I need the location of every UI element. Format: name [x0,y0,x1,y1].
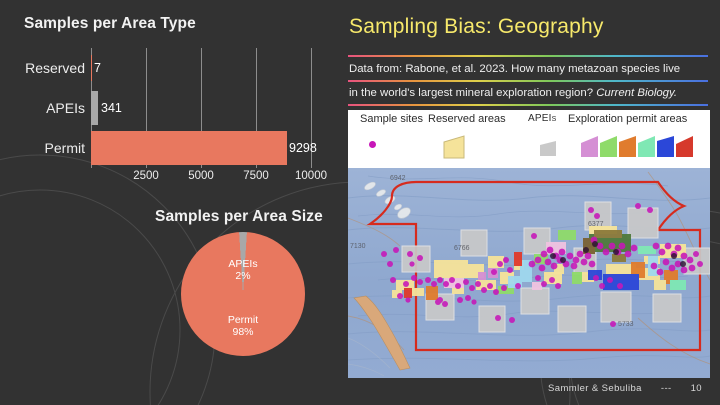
footer-page-number: 10 [691,383,702,394]
apei-polygon-icon [538,139,560,159]
pie-slice-label-apeis: APEIs 2% [228,258,257,282]
sample-site-dot-icon [369,141,376,148]
bar-chart-x-axis: 2500 5000 7500 10000 [91,170,312,190]
map-graphic: 6942 7130 6766 6377 5733 [348,168,710,378]
axis-tick-2500: 2500 [133,170,159,182]
table-row[interactable]: Reserved 7 [91,48,312,88]
bar-value-label: 341 [101,101,122,115]
legend-label-permit-areas: Exploration permit areas [568,113,687,125]
left-charts-column: Samples per Area Type Reserved 7 APEIs 3… [0,0,340,405]
pie-slice-percent: 2% [228,270,257,282]
slide-root: Samples per Area Type Reserved 7 APEIs 3… [0,0,720,405]
map-legend: Sample sites Reserved areas APEIs Explor… [348,110,710,168]
citation-journal: Current Biology. [596,87,677,99]
reserved-area-polygon-icon [442,134,470,160]
map-annotation: 6766 [454,245,470,252]
axis-tick-7500: 7500 [243,170,269,182]
bar-chart-plot-area: Reserved 7 APEIs 341 Permit 9298 [91,48,312,168]
bar-permit[interactable] [91,131,287,165]
bar-category-label: APEIs [46,100,85,116]
permit-area-polygon-icons [580,134,698,160]
footer-authors: Sammler & Sebuliba [548,383,642,394]
pie-chart-title: Samples per Area Size [155,208,323,226]
citation-line-1: Data from: Rabone, et al. 2023. How many… [349,57,711,81]
page-title: Sampling Bias: Geography [349,15,604,39]
map-image[interactable]: 6942 7130 6766 6377 5733 [348,168,710,378]
footer-text: Sammler & Sebuliba --- 10 [532,383,702,394]
pie-chart[interactable]: APEIs 2% Permit 98% [181,232,305,356]
legend-label-sample-sites: Sample sites [360,113,423,125]
bar-chart: Reserved 7 APEIs 341 Permit 9298 2500 5 [0,48,340,188]
slide-footer: Sammler & Sebuliba --- 10 [0,383,720,397]
table-row[interactable]: APEIs 341 [91,88,312,128]
axis-tick-10000: 10000 [295,170,327,182]
footer-separator: --- [661,383,672,394]
bar-apeis[interactable] [91,91,98,125]
citation-plain: in the world's largest mineral explorati… [349,87,596,99]
map-annotation: 6942 [390,175,406,182]
bar-category-label: Reserved [25,60,85,76]
map-annotation: 7130 [350,243,366,250]
divider-rule-bottom [348,104,708,106]
bar-value-label: 7 [94,61,101,75]
citation-line-2: in the world's largest mineral explorati… [349,81,711,105]
bar-chart-title: Samples per Area Type [24,15,196,33]
legend-label-reserved-areas: Reserved areas [428,113,506,125]
map-legend-labels: Sample sites Reserved areas APEIs Explor… [348,113,710,129]
map-annotation: 6377 [588,221,604,228]
table-row[interactable]: Permit 9298 [91,128,312,168]
map-figure-panel[interactable]: Sample sites Reserved areas APEIs Explor… [348,110,710,378]
map-annotation: 5733 [618,321,634,328]
bar-category-label: Permit [45,140,85,156]
axis-tick-5000: 5000 [188,170,214,182]
legend-label-apeis: APEIs [528,113,556,124]
bar-value-label: 9298 [289,141,317,155]
pie-slice-percent: 98% [228,326,258,338]
right-content-column: Sampling Bias: Geography Data from: Rabo… [340,0,720,405]
pie-slice-name: Permit [228,314,258,326]
pie-slice-name: APEIs [228,258,257,270]
map-legend-swatches [348,130,710,164]
pie-slice-label-permit: Permit 98% [228,314,258,338]
